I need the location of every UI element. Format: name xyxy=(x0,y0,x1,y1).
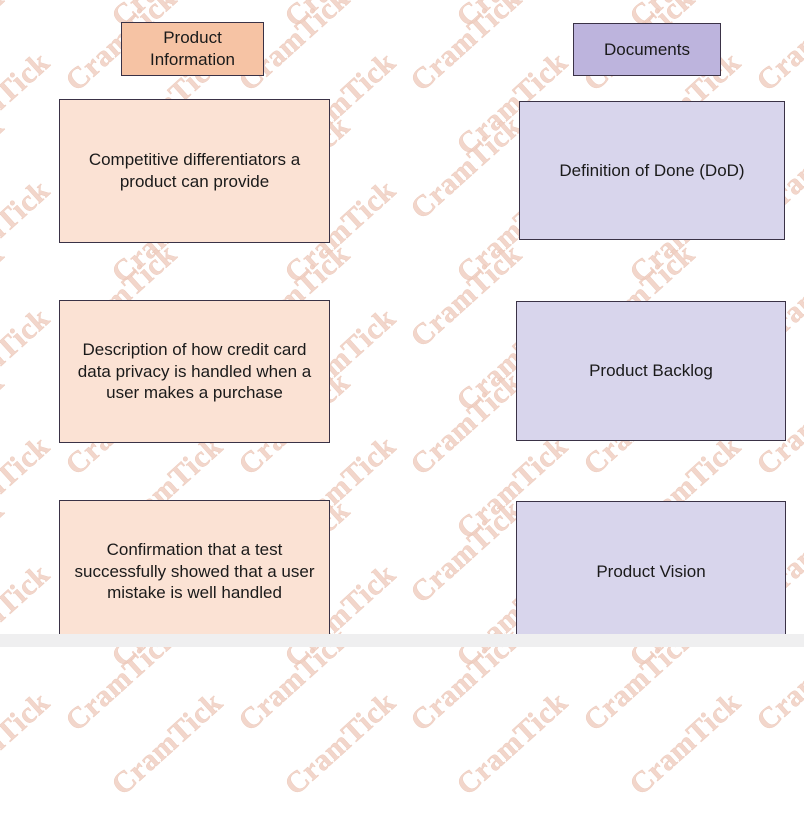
watermark-text: CramTick xyxy=(740,0,804,110)
column-header-documents: Documents xyxy=(573,23,721,76)
watermark-text: CramTick xyxy=(0,610,21,749)
watermark-text: CramTick xyxy=(440,0,584,46)
watermark-text: CramTick xyxy=(786,162,804,301)
watermark-text: CramTick xyxy=(0,290,67,429)
watermark-text: CramTick xyxy=(440,674,584,813)
documents-item-3-label: Product Vision xyxy=(586,561,715,583)
watermark-text: CramTick xyxy=(394,98,538,237)
watermark-text: CramTick xyxy=(394,0,538,110)
watermark-row: CramTickCramTickCramTickCramTickCramTick… xyxy=(0,648,804,712)
product-information-item-3-label: Confirmation that a test successfully sh… xyxy=(60,539,329,604)
column-header-product-information: Product Information xyxy=(121,22,264,76)
documents-item-2[interactable]: Product Backlog xyxy=(516,301,786,441)
watermark-text: CramTick xyxy=(0,482,21,621)
watermark-text: CramTick xyxy=(95,674,239,813)
watermark-text: CramTick xyxy=(0,34,67,173)
watermark-text: CramTick xyxy=(0,418,67,557)
documents-item-1-label: Definition of Done (DoD) xyxy=(549,160,754,182)
product-information-item-2-label: Description of how credit card data priv… xyxy=(60,339,329,404)
watermark-text: CramTick xyxy=(786,34,804,173)
product-information-item-1[interactable]: Competitive differentiators a product ca… xyxy=(59,99,330,243)
documents-item-1[interactable]: Definition of Done (DoD) xyxy=(519,101,785,240)
watermark-text: CramTick xyxy=(0,0,21,110)
watermark-text: CramTick xyxy=(786,546,804,685)
watermark-text: CramTick xyxy=(786,0,804,46)
product-information-item-1-label: Competitive differentiators a product ca… xyxy=(60,149,329,193)
documents-item-2-label: Product Backlog xyxy=(579,360,723,382)
watermark-text: CramTick xyxy=(0,546,67,685)
bottom-strip xyxy=(0,634,804,647)
product-information-item-3[interactable]: Confirmation that a test successfully sh… xyxy=(59,500,330,643)
watermark-text: CramTick xyxy=(613,674,757,813)
watermark-text: CramTick xyxy=(0,226,21,365)
watermark-text: CramTick xyxy=(0,98,21,237)
watermark-text: CramTick xyxy=(786,290,804,429)
documents-item-3[interactable]: Product Vision xyxy=(516,501,786,642)
watermark-row: CramTickCramTickCramTickCramTickCramTick… xyxy=(0,0,804,8)
watermark-text: CramTick xyxy=(786,674,804,813)
watermark-text: CramTick xyxy=(268,674,412,813)
column-header-product-information-label: Product Information xyxy=(122,27,263,71)
watermark-text: CramTick xyxy=(0,0,67,46)
watermark-text: CramTick xyxy=(268,0,412,46)
product-information-item-2[interactable]: Description of how credit card data priv… xyxy=(59,300,330,443)
watermark-text: CramTick xyxy=(786,418,804,557)
watermark-row: CramTickCramTickCramTickCramTickCramTick… xyxy=(0,712,804,776)
watermark-text: CramTick xyxy=(0,162,67,301)
column-header-documents-label: Documents xyxy=(594,39,700,61)
watermark-text: CramTick xyxy=(0,674,67,813)
watermark-text: CramTick xyxy=(0,354,21,493)
